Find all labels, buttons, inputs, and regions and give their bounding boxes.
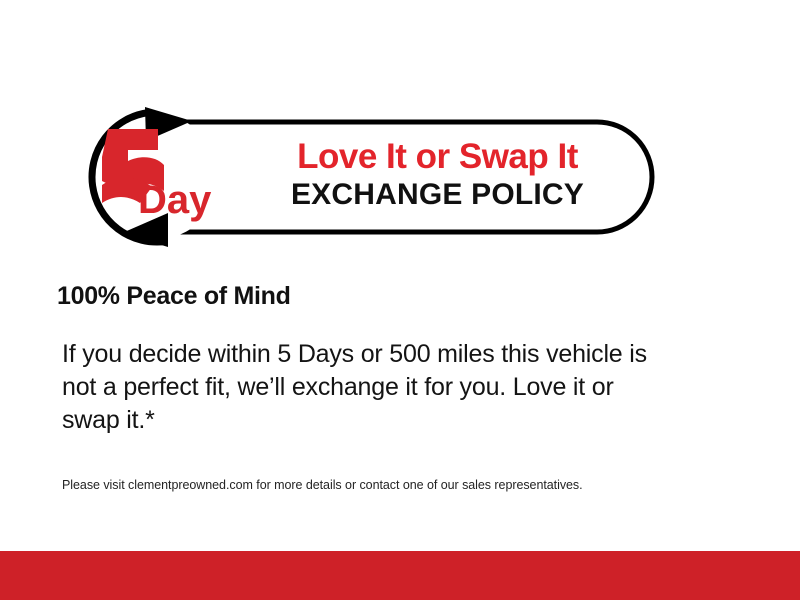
- peace-of-mind-heading: 100% Peace of Mind: [57, 283, 291, 311]
- banner-text: Love It or Swap It EXCHANGE POLICY: [215, 117, 660, 232]
- policy-description: If you decide within 5 Days or 500 miles…: [62, 338, 674, 437]
- fine-print-disclaimer: Please visit clementpreowned.com for mor…: [62, 477, 722, 493]
- footer-accent-bar: [0, 551, 800, 600]
- banner-headline: Love It or Swap It: [297, 139, 578, 175]
- banner-subhead: EXCHANGE POLICY: [291, 179, 584, 211]
- exchange-policy-badge: Day Love It or Swap It EXCHANGE POLICY: [40, 95, 665, 265]
- logo-day-word: Day: [138, 178, 212, 222]
- promo-card: Day Love It or Swap It EXCHANGE POLICY 1…: [0, 0, 800, 600]
